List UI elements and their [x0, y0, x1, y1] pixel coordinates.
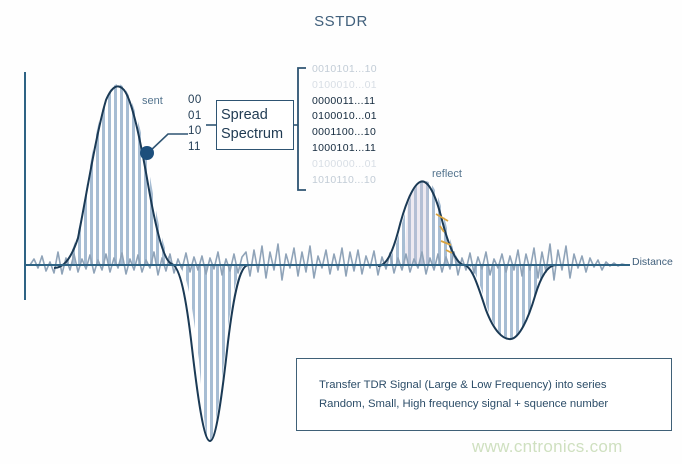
axis-label-distance: Distance	[632, 256, 673, 268]
sent-leader-line	[148, 134, 188, 153]
caption-line2: Random, Small, High frequency signal + s…	[319, 395, 671, 414]
sent-pulse-hatch-positive	[50, 70, 190, 280]
caption-line1: Transfer TDR Signal (Large & Low Frequen…	[319, 376, 671, 395]
reflect-pulse-hatch-negative	[460, 262, 560, 347]
sequence-row: 0000011...11	[312, 94, 377, 110]
code-item-10: 10	[188, 124, 202, 140]
sequence-row: 1010110...10	[312, 173, 377, 189]
sstdr-diagram: SSTDR	[0, 0, 682, 464]
code-item-11: 11	[188, 140, 202, 156]
sequence-row: 0010101...10	[312, 62, 377, 78]
sequence-row: 0001100...10	[312, 125, 377, 141]
spread-spectrum-line2: Spectrum	[221, 125, 293, 144]
sequence-row: 0100000...01	[312, 157, 377, 173]
watermark: www.cntronics.com	[472, 437, 623, 457]
sent-marker-dot	[140, 146, 154, 160]
sequence-bracket	[298, 68, 306, 190]
code-item-01: 01	[188, 109, 202, 125]
sequence-row: 0100010...01	[312, 109, 377, 125]
sequence-row: 1000101...11	[312, 141, 377, 157]
reflect-label: reflect	[432, 168, 462, 180]
reflect-tint-patch	[404, 182, 430, 265]
spread-spectrum-line1: Spread	[221, 106, 293, 125]
binary-sequence-block: 0010101...10 0100010...01 0000011...11 0…	[312, 62, 377, 188]
spread-spectrum-box: Spread Spectrum	[216, 100, 294, 150]
caption-box: Transfer TDR Signal (Large & Low Frequen…	[296, 358, 672, 431]
code-list: 00 01 10 11	[188, 93, 202, 155]
code-item-00: 00	[188, 93, 202, 109]
sent-label: sent	[142, 95, 163, 107]
sequence-row: 0100010...01	[312, 78, 377, 94]
